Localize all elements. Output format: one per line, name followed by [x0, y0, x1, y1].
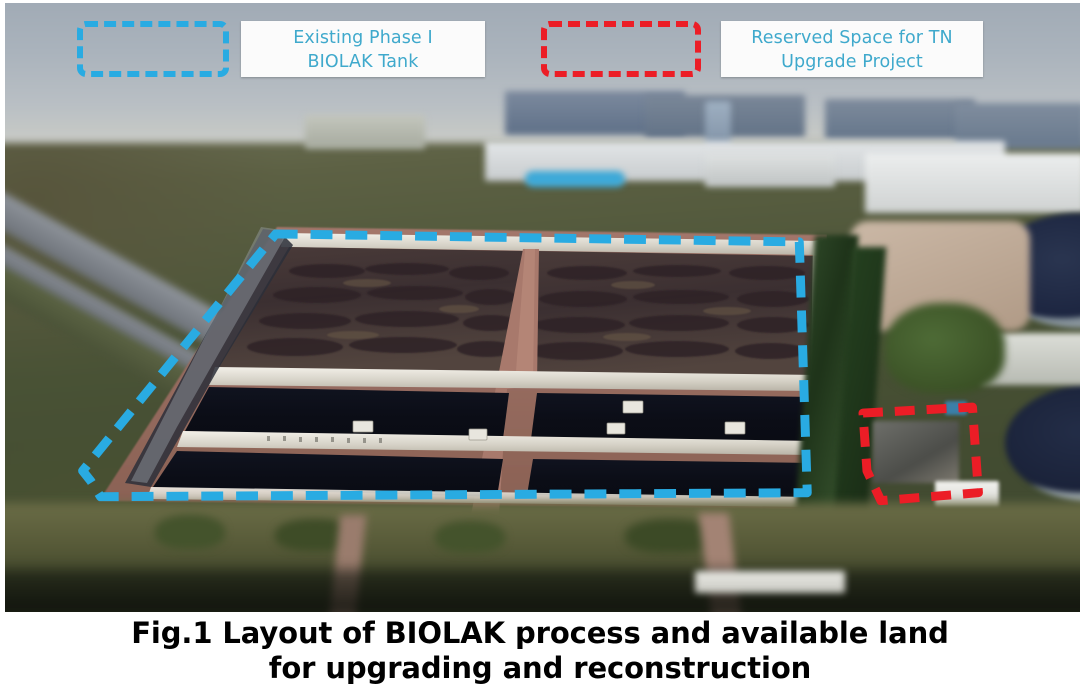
blue-dashed-swatch [77, 21, 229, 77]
aerial-photograph: Existing Phase I BIOLAK Tank Reserved Sp… [0, 0, 1080, 612]
tank-complex-svg [67, 225, 827, 515]
legend-label-line-1: Existing Phase I [293, 28, 432, 48]
caption-line-2: for upgrading and reconstruction [0, 651, 1080, 686]
legend-item-reserved-space-tn[interactable]: Reserved Space for TN Upgrade Project [541, 21, 983, 77]
shrub-cluster-right [885, 303, 1005, 393]
legend-item-existing-biolak-tank[interactable]: Existing Phase I BIOLAK Tank [77, 21, 485, 77]
foreground-dark-band [0, 569, 1080, 612]
service-yard-structures [873, 421, 959, 483]
legend-label-reserved-space-tn: Reserved Space for TN Upgrade Project [721, 21, 983, 77]
legend-label-line-1: Reserved Space for TN [751, 28, 952, 48]
figure-caption: Fig.1 Layout of BIOLAK process and avail… [0, 616, 1080, 686]
foreground-white-kerb [695, 571, 845, 593]
legend-label-line-2: BIOLAK Tank [308, 52, 419, 72]
building-block-far-right [865, 153, 1080, 213]
legend-label-existing-biolak-tank: Existing Phase I BIOLAK Tank [241, 21, 485, 77]
foreground-shrub-1 [155, 515, 225, 549]
building-roof-3 [825, 99, 975, 139]
figure-page: Existing Phase I BIOLAK Tank Reserved Sp… [0, 0, 1080, 700]
blue-container [945, 401, 967, 415]
cyan-signage-band [525, 171, 625, 187]
caption-line-1: Fig.1 Layout of BIOLAK process and avail… [0, 616, 1080, 651]
red-dashed-swatch [541, 21, 701, 77]
legend-label-line-2: Upgrade Project [781, 52, 923, 72]
biolak-tank-complex [67, 225, 827, 515]
building-block-right-low [705, 153, 835, 187]
foreground-shrub-3 [435, 521, 505, 553]
building-block-left [305, 115, 425, 149]
